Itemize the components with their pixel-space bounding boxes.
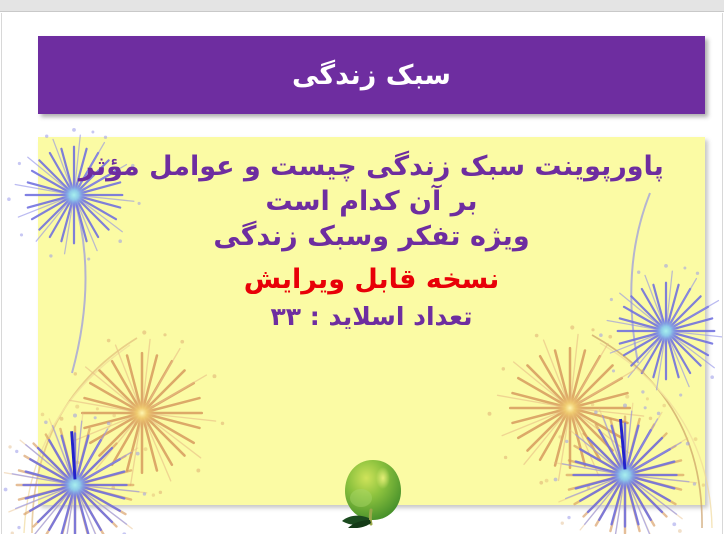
firework-mixed-left-lower: [2, 405, 155, 534]
window-chrome-strip: [0, 0, 724, 12]
firework-mixed-right-lower: [545, 395, 705, 534]
firework-blue-left-upper: [7, 128, 141, 261]
firework-trail-arcs-right: [592, 193, 712, 528]
body-line-editable-notice: نسخه قابل ویرایش: [38, 262, 705, 297]
body-line-slide-count: تعداد اسلاید : ۳۳: [38, 301, 705, 334]
slide-body-text-block: پاورپوینت سبک زندگی چیست و عوامل مؤثر بر…: [38, 149, 705, 334]
slide-canvas: سبک زندگی: [1, 13, 723, 534]
firework-orange-left: [60, 330, 225, 494]
slide-title-banner: سبک زندگی: [38, 36, 705, 114]
body-line-2: بر آن کدام است: [38, 184, 705, 219]
slide-screenshot: سبک زندگی: [0, 0, 724, 535]
firework-blue-right-upper: [599, 264, 723, 397]
slide-body-panel: پاورپوینت سبک زندگی چیست و عوامل مؤثر بر…: [38, 137, 705, 505]
body-line-3: ویژه تفکر وسبک زندگی: [38, 219, 705, 254]
firework-orange-right: [488, 325, 653, 489]
body-line-1: پاورپوینت سبک زندگی چیست و عوامل مؤثر: [38, 149, 705, 184]
slide-title-text: سبک زندگی: [292, 60, 451, 91]
firework-trail-arcs-left: [24, 198, 137, 533]
